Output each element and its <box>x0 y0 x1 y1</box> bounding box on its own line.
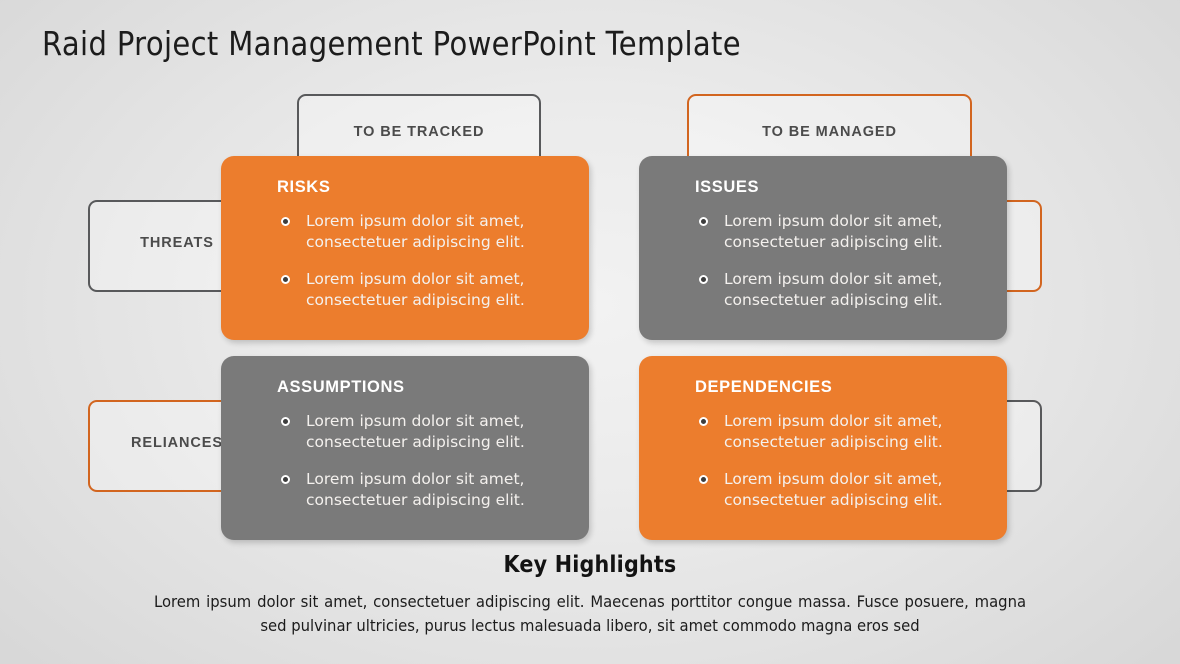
list-item: Lorem ipsum dolor sit amet, consectetuer… <box>277 269 561 311</box>
bullet-list-assumptions: Lorem ipsum dolor sit amet, consectetuer… <box>277 411 569 511</box>
card-issues[interactable]: ISSUES Lorem ipsum dolor sit amet, conse… <box>639 156 1007 340</box>
card-dependencies[interactable]: DEPENDENCIES Lorem ipsum dolor sit amet,… <box>639 356 1007 540</box>
bullet-list-risks: Lorem ipsum dolor sit amet, consectetuer… <box>277 211 569 311</box>
list-item: Lorem ipsum dolor sit amet, consectetuer… <box>695 211 979 253</box>
list-item: Lorem ipsum dolor sit amet, consectetuer… <box>695 411 979 453</box>
bullet-icon <box>699 217 708 226</box>
list-item-text: Lorem ipsum dolor sit amet, consectetuer… <box>306 270 525 309</box>
list-item: Lorem ipsum dolor sit amet, consectetuer… <box>277 469 561 511</box>
bullet-icon <box>281 275 290 284</box>
card-title-assumptions: ASSUMPTIONS <box>277 378 569 397</box>
key-highlights-section: Key Highlights Lorem ipsum dolor sit ame… <box>0 552 1180 638</box>
slide-canvas: Raid Project Management PowerPoint Templ… <box>0 0 1180 664</box>
card-risks[interactable]: RISKS Lorem ipsum dolor sit amet, consec… <box>221 156 589 340</box>
list-item-text: Lorem ipsum dolor sit amet, consectetuer… <box>724 212 943 251</box>
key-highlights-body: Lorem ipsum dolor sit amet, consectetuer… <box>154 590 1026 638</box>
list-item-text: Lorem ipsum dolor sit amet, consectetuer… <box>306 470 525 509</box>
card-assumptions[interactable]: ASSUMPTIONS Lorem ipsum dolor sit amet, … <box>221 356 589 540</box>
bullet-icon <box>281 417 290 426</box>
bullet-list-dependencies: Lorem ipsum dolor sit amet, consectetuer… <box>695 411 987 511</box>
list-item: Lorem ipsum dolor sit amet, consectetuer… <box>695 269 979 311</box>
list-item: Lorem ipsum dolor sit amet, consectetuer… <box>695 469 979 511</box>
key-highlights-title: Key Highlights <box>59 552 1121 578</box>
bullet-list-issues: Lorem ipsum dolor sit amet, consectetuer… <box>695 211 987 311</box>
bullet-icon <box>699 417 708 426</box>
page-title: Raid Project Management PowerPoint Templ… <box>42 24 741 63</box>
list-item: Lorem ipsum dolor sit amet, consectetuer… <box>277 211 561 253</box>
bullet-icon <box>281 475 290 484</box>
card-title-dependencies: DEPENDENCIES <box>695 378 987 397</box>
list-item-text: Lorem ipsum dolor sit amet, consectetuer… <box>724 270 943 309</box>
bullet-icon <box>699 275 708 284</box>
bullet-icon <box>281 217 290 226</box>
card-title-risks: RISKS <box>277 178 569 197</box>
header-label-to-be-tracked: TO BE TRACKED <box>299 124 539 140</box>
bullet-icon <box>699 475 708 484</box>
list-item-text: Lorem ipsum dolor sit amet, consectetuer… <box>306 412 525 451</box>
list-item-text: Lorem ipsum dolor sit amet, consectetuer… <box>724 412 943 451</box>
header-label-to-be-managed: TO BE MANAGED <box>689 124 970 140</box>
card-title-issues: ISSUES <box>695 178 987 197</box>
list-item-text: Lorem ipsum dolor sit amet, consectetuer… <box>306 212 525 251</box>
list-item: Lorem ipsum dolor sit amet, consectetuer… <box>277 411 561 453</box>
list-item-text: Lorem ipsum dolor sit amet, consectetuer… <box>724 470 943 509</box>
